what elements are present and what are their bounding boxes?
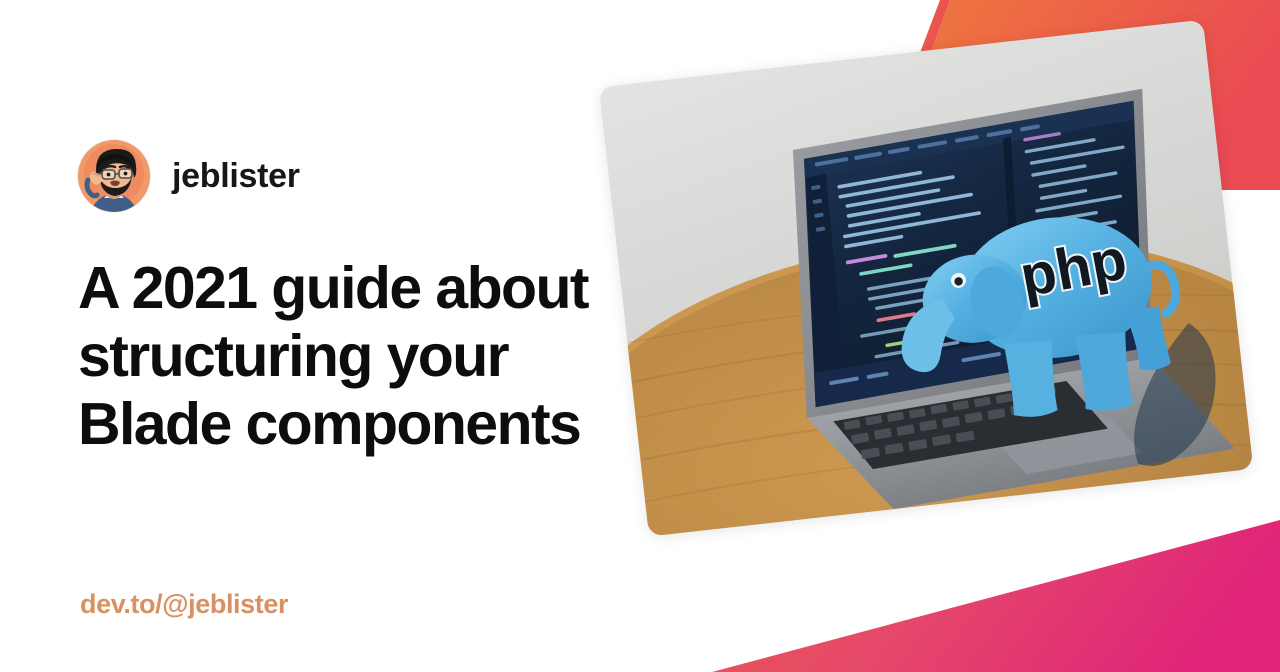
article-cover-photo: php xyxy=(622,52,1242,552)
article-meta-column: jeblister A 2021 guide about structuring… xyxy=(78,140,638,458)
photo-illustration: php xyxy=(599,20,1254,537)
photo-content: php xyxy=(599,20,1254,537)
watermark-url: dev.to/@jeblister xyxy=(80,589,288,620)
share-card-canvas: php dev.to/@jeblister xyxy=(0,0,1280,672)
avatar-bitmoji-icon xyxy=(78,140,150,212)
author-name[interactable]: jeblister xyxy=(172,159,300,193)
author-row[interactable]: jeblister xyxy=(78,140,638,212)
avatar[interactable] xyxy=(78,140,150,212)
photo-card: php xyxy=(599,20,1254,537)
post-title: A 2021 guide about structuring your Blad… xyxy=(78,254,638,458)
